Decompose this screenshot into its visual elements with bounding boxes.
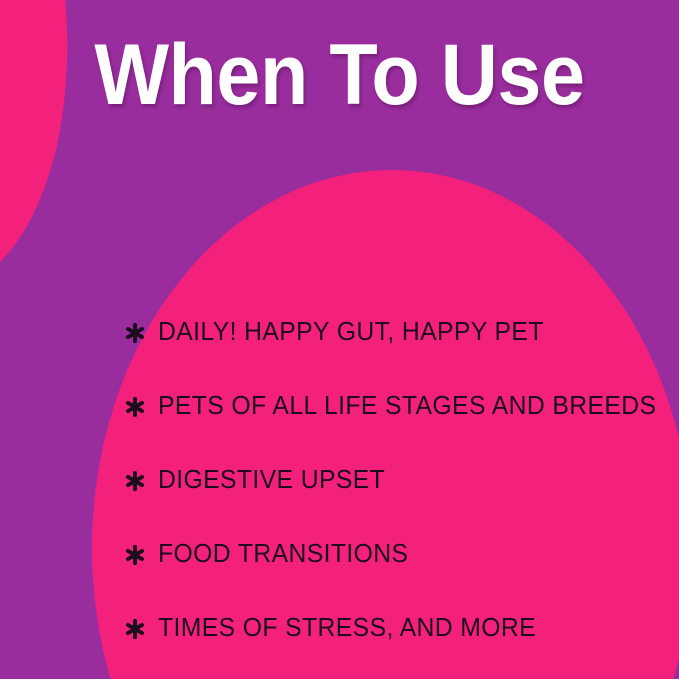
asterisk-flower-icon: [124, 544, 146, 566]
asterisk-flower-icon: [124, 322, 146, 344]
list-item: DAILY! HAPPY GUT, HAPPY PET: [124, 296, 664, 370]
poster-canvas: When To Use DAILY! HAPPY GUT, HAPPY: [0, 0, 679, 679]
asterisk-flower-icon: [124, 618, 146, 640]
asterisk-flower-icon: [124, 396, 146, 418]
list-item: FOOD TRANSITIONS: [124, 518, 664, 592]
page-title: When To Use: [94, 32, 584, 118]
list-item-label: PETS OF ALL LIFE STAGES AND BREEDS: [158, 394, 656, 420]
title-container: When To Use: [0, 0, 679, 150]
list-item-label: DAILY! HAPPY GUT, HAPPY PET: [158, 320, 544, 346]
asterisk-flower-icon: [124, 470, 146, 492]
list-item-label: DIGESTIVE UPSET: [158, 468, 385, 494]
usage-list: DAILY! HAPPY GUT, HAPPY PET PETS OF ALL: [124, 296, 664, 666]
list-item-label: FOOD TRANSITIONS: [158, 542, 408, 568]
list-item: TIMES OF STRESS, AND MORE: [124, 592, 664, 666]
list-item: PETS OF ALL LIFE STAGES AND BREEDS: [124, 370, 664, 444]
list-item-label: TIMES OF STRESS, AND MORE: [158, 616, 536, 642]
list-item: DIGESTIVE UPSET: [124, 444, 664, 518]
